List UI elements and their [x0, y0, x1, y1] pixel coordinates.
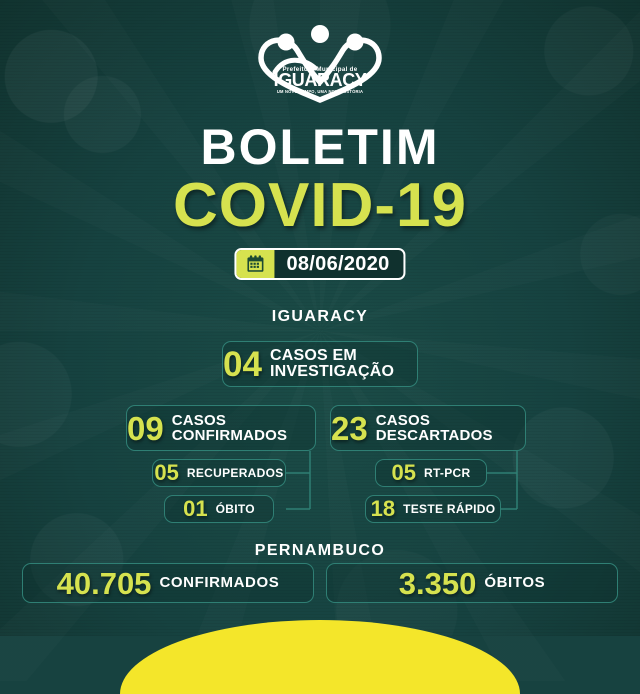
date-value: 08/06/2020 [274, 250, 403, 278]
stat-box-casos-em-investigacao: 04 CASOS EM INVESTIGAÇÃO [222, 341, 418, 387]
stat-value: 05 [392, 462, 416, 484]
stat-value: 01 [183, 498, 207, 520]
stat-label: CASOS EM INVESTIGAÇÃO [270, 348, 417, 381]
calendar-glyph [245, 254, 265, 274]
logo-tagline: UM NOVO TEMPO, UMA NOVA HISTÓRIA [277, 89, 363, 94]
date-badge: 08/06/2020 [234, 248, 405, 280]
stat-box-casos-confirmados: 09 CASOS CONFIRMADOS [126, 405, 316, 451]
stat-box-rt-pcr: 05 RT-PCR [375, 459, 487, 487]
stat-label: CONFIRMADOS [159, 575, 279, 590]
stat-label: ÓBITOS [484, 575, 545, 590]
section-heading-iguaracy: IGUARACY [0, 308, 640, 326]
stat-value: 05 [154, 462, 178, 484]
stat-value: 3.350 [399, 568, 477, 599]
stat-label: CASOS DESCARTADOS [376, 413, 525, 444]
stat-box-casos-descartados: 23 CASOS DESCARTADOS [330, 405, 526, 451]
stat-box-recuperados: 05 RECUPERADOS [152, 459, 286, 487]
stat-box-teste-rapido: 18 TESTE RÁPIDO [365, 495, 501, 523]
section-heading-pernambuco: PERNAMBUCO [0, 542, 640, 560]
stat-value: 18 [371, 498, 395, 520]
page-subtitle: COVID-19 [0, 175, 640, 237]
page-title: BOLETIM [0, 122, 640, 172]
iguaracy-heart-people-logo: Prefeitura Municipal de IGUARACY UM NOVO… [245, 24, 395, 104]
stat-value: 04 [223, 347, 262, 382]
covid-bulletin-poster: Prefeitura Municipal de IGUARACY UM NOVO… [0, 0, 640, 636]
stat-value: 40.705 [57, 568, 152, 599]
prefeitura-logo: Prefeitura Municipal de IGUARACY UM NOVO… [0, 24, 640, 104]
stat-label: RECUPERADOS [187, 467, 284, 479]
stat-label: ÓBITO [216, 503, 255, 515]
stat-label: RT-PCR [424, 467, 470, 479]
stat-box-obito: 01 ÓBITO [164, 495, 274, 523]
logo-name: IGUARACY [274, 70, 367, 90]
stat-value: 23 [331, 412, 368, 445]
stat-box-pernambuco-confirmados: 40.705 CONFIRMADOS [22, 563, 314, 603]
calendar-icon [236, 250, 274, 278]
bottom-yellow-arc [120, 620, 520, 694]
stat-label: TESTE RÁPIDO [403, 503, 495, 515]
stat-label: CASOS CONFIRMADOS [172, 413, 315, 444]
stat-value: 09 [127, 412, 164, 445]
stat-box-pernambuco-obitos: 3.350 ÓBITOS [326, 563, 618, 603]
bracket-connector-confirmados [280, 451, 316, 513]
